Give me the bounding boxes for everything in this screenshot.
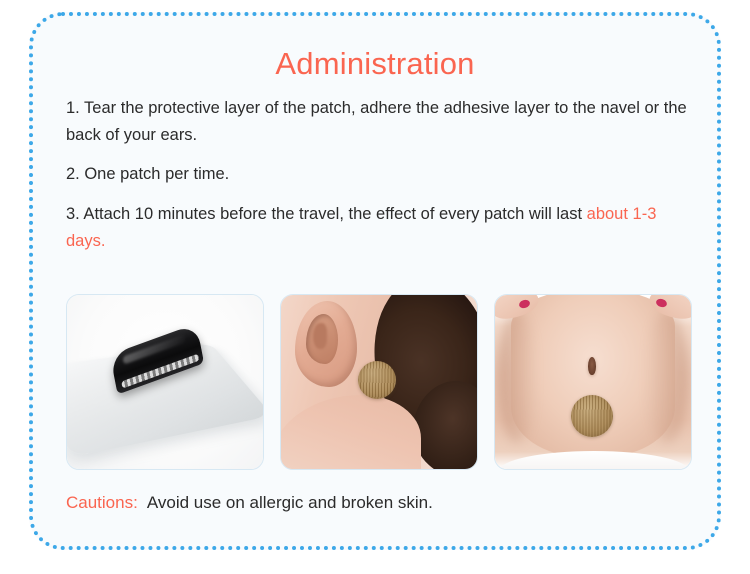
photo-behind-ear (280, 294, 478, 470)
cautions-text: Avoid use on allergic and broken skin. (147, 493, 433, 512)
applied-patch-behind-ear (358, 361, 396, 399)
instruction-step-1: 1. Tear the protective layer of the patc… (66, 95, 692, 148)
instruction-step-3-text: 3. Attach 10 minutes before the travel, … (66, 205, 587, 223)
abdomen-left-shadow (497, 311, 537, 443)
photo-strip (66, 294, 692, 470)
applied-patch-navel (571, 395, 613, 437)
instruction-steps: 1. Tear the protective layer of the patc… (66, 95, 692, 255)
photo-patch-peel (66, 294, 264, 470)
photo-navel (494, 294, 692, 470)
instruction-step-3: 3. Attach 10 minutes before the travel, … (66, 201, 692, 254)
ear-shape (295, 301, 357, 387)
navel-shape (588, 357, 596, 375)
page-title: Administration (34, 48, 716, 79)
cautions-label: Cautions: (66, 493, 138, 512)
instruction-step-2: 2. One patch per time. (66, 161, 692, 188)
page-root: Administration 1. Tear the protective la… (0, 0, 750, 574)
info-card: Administration 1. Tear the protective la… (34, 17, 716, 545)
cautions-line: Cautions:Avoid use on allergic and broke… (66, 492, 433, 514)
abdomen-right-shadow (645, 311, 689, 443)
